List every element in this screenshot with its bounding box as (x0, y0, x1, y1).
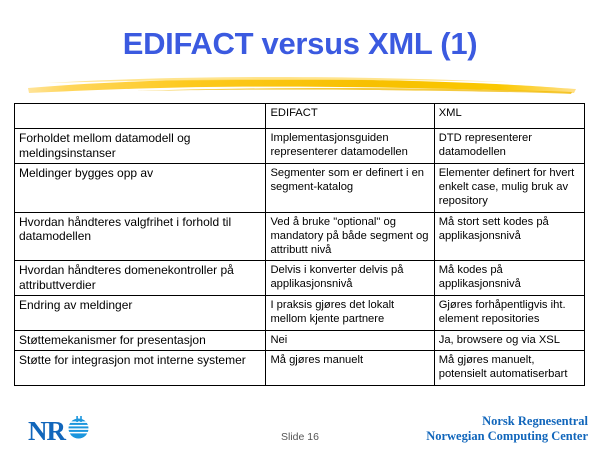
table-row: Støtte for integrasjon mot interne syste… (15, 351, 585, 385)
table-row: Hvordan håndteres valgfrihet i forhold t… (15, 212, 585, 261)
cell-edifact: Må gjøres manuelt (266, 351, 434, 385)
cell-edifact: I praksis gjøres det lokalt mellom kjent… (266, 296, 434, 330)
table-row: Hvordan håndteres domenekontroller på at… (15, 261, 585, 296)
table-row: Endring av meldinger I praksis gjøres de… (15, 296, 585, 330)
title-underline-swoosh (26, 74, 578, 96)
cell-criterion: Meldinger bygges opp av (15, 164, 266, 213)
cell-xml: Må kodes på applikasjonsnivå (434, 261, 584, 296)
cell-criterion: Endring av meldinger (15, 296, 266, 330)
title-area: EDIFACT versus XML (1) (0, 26, 600, 62)
column-header-edifact: EDIFACT (266, 104, 434, 129)
cell-xml: DTD representerer datamodellen (434, 129, 584, 164)
table-row: Forholdet mellom datamodell og meldingsi… (15, 129, 585, 164)
organization-name: Norsk Regnesentral Norwegian Computing C… (426, 414, 588, 443)
cell-criterion: Støttemekanismer for presentasjon (15, 330, 266, 351)
table-row: Støttemekanismer for presentasjon Nei Ja… (15, 330, 585, 351)
cell-edifact: Implementasjonsguiden representerer data… (266, 129, 434, 164)
cell-xml: Elementer definert for hvert enkelt case… (434, 164, 584, 213)
cell-xml: Må gjøres manuelt, potensielt automatise… (434, 351, 584, 385)
comparison-table: EDIFACT XML Forholdet mellom datamodell … (14, 103, 585, 386)
cell-criterion: Forholdet mellom datamodell og meldingsi… (15, 129, 266, 164)
cell-xml: Gjøres forhåpentligvis iht. element repo… (434, 296, 584, 330)
cell-criterion: Hvordan håndteres valgfrihet i forhold t… (15, 212, 266, 261)
column-header-xml: XML (434, 104, 584, 129)
org-name-norwegian: Norsk Regnesentral (426, 414, 588, 429)
cell-xml: Ja, browsere og via XSL (434, 330, 584, 351)
org-name-english: Norwegian Computing Center (426, 429, 588, 444)
cell-criterion: Hvordan håndteres domenekontroller på at… (15, 261, 266, 296)
table-row: Meldinger bygges opp av Segmenter som er… (15, 164, 585, 213)
table-header-row: EDIFACT XML (15, 104, 585, 129)
page-title: EDIFACT versus XML (1) (0, 26, 600, 62)
column-header-criterion (15, 104, 266, 129)
cell-criterion: Støtte for integrasjon mot interne syste… (15, 351, 266, 385)
cell-edifact: Nei (266, 330, 434, 351)
cell-xml: Må stort sett kodes på applikasjonsnivå (434, 212, 584, 261)
cell-edifact: Delvis i konverter delvis på applikasjon… (266, 261, 434, 296)
cell-edifact: Segmenter som er definert i en segment-k… (266, 164, 434, 213)
cell-edifact: Ved å bruke "optional" og mandatory på b… (266, 212, 434, 261)
slide-footer: NR Slide 16 Norsk Regnesentral Norwegian… (0, 414, 600, 450)
